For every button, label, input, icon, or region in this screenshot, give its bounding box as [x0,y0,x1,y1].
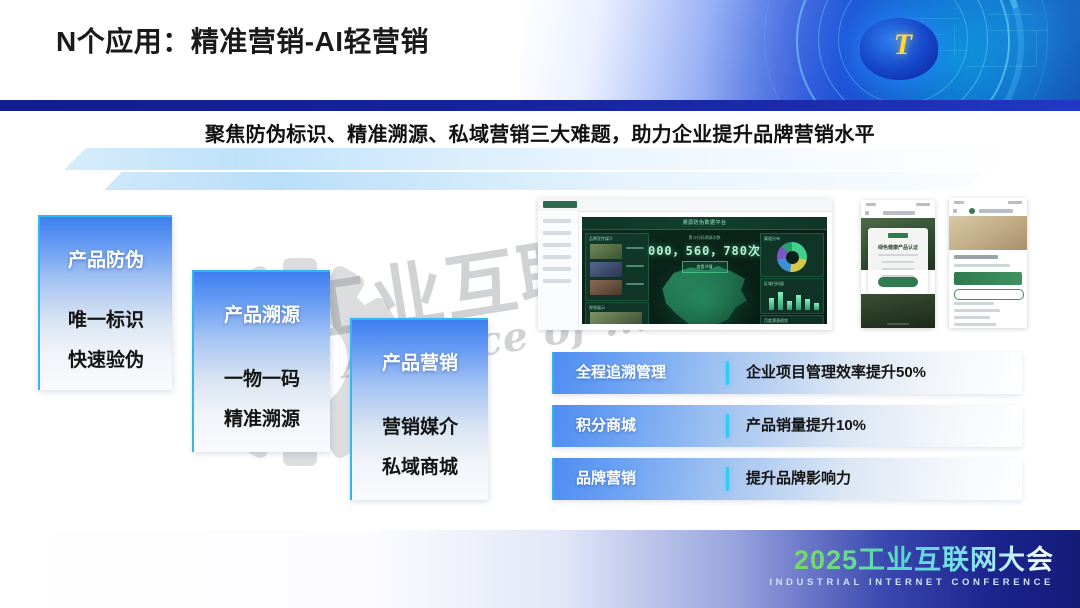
page-title: N个应用：精准营销-AI轻营销 [56,20,429,60]
phone-hero-image [949,216,1027,250]
feature-card-anti-counterfeit[interactable]: 产品防伪 唯一标识 快速验伪 [38,215,172,390]
dashboard-panel-left-top: 品牌宣传媒介 [585,233,649,301]
benefit-label: 品牌营销 [576,458,726,500]
phone-card-title: 绿色健康产品认证 [868,244,928,251]
phone-status-bar [949,198,1027,206]
panel-caption: 月度溯源趋势 [764,318,788,324]
card-line: 一物一码 [194,364,330,391]
conference-logo-main: 2025工业互联网大会 [769,545,1054,575]
card-line: 唯一标识 [40,305,172,332]
card-line: 快速验伪 [40,345,172,372]
card-title: 产品溯源 [194,300,330,327]
dashboard-panel-right-bottom: 月度溯源趋势 [760,315,824,324]
header-band: T N个应用：精准营销-AI轻营销 [0,0,1080,100]
phone-cta-button[interactable] [878,277,918,287]
slide-root: T N个应用：精准营销-AI轻营销 聚焦防伪标识、精准溯源、私域营销三大难题，助… [0,0,1080,608]
dashboard-title: 溯源防伪数据平台 [682,219,726,226]
conference-logo-sub: INDUSTRIAL INTERNET CONFERENCE [769,577,1054,588]
ribbon-lower [104,172,984,190]
benefits-list: 全程追溯管理 企业项目管理效率提升50% 积分商城 产品销量提升10% 品牌营销… [552,352,1022,511]
dashboard-panel-right-top: 渠道分布 [760,233,824,277]
card-title: 产品防伪 [40,245,172,272]
dashboard-browser-chrome [538,198,832,212]
card-line: 精准溯源 [194,404,330,431]
phone-tag-strip [954,272,1022,285]
ribbon-upper [64,148,1020,170]
phone-outline-button[interactable] [954,289,1024,300]
tech-graphic: T [520,0,1080,100]
brand-t-icon: T [894,30,912,60]
dashboard-logo [543,201,577,208]
slide-subtitle: 聚焦防伪标识、精准溯源、私域营销三大难题，助力企业提升品牌营销水平 [0,118,1080,147]
dashboard-sidebar [538,211,579,330]
dashboard-panel-left-bottom: 视频展示 [585,302,649,324]
navy-divider-bar [0,100,1080,111]
feature-card-traceability[interactable]: 产品溯源 一物一码 精准溯源 [192,270,330,452]
benefit-label: 积分商城 [576,405,726,447]
panel-caption: 渠道分布 [764,236,780,242]
benefit-label: 全程追溯管理 [576,352,726,394]
phone-content-card: 绿色健康产品认证 [868,228,928,294]
panel-caption: 区域扫码量 [764,281,784,287]
card-line: 营销媒介 [352,412,488,439]
kpi-value: 000，560，780次 [648,242,761,259]
dashboard-screenshot: 溯源防伪数据平台 累计扫码溯源次数 000，560，780次 查看详情 品牌宣传… [538,198,832,330]
benefit-value: 企业项目管理效率提升50% [746,352,926,394]
panel-caption: 视频展示 [589,305,605,311]
panel-caption: 品牌宣传媒介 [589,236,613,242]
benefit-value: 提升品牌影响力 [746,458,851,500]
row-divider [726,361,729,385]
card-line: 私域商城 [352,452,488,479]
china-map-visual [653,259,757,324]
dashboard-canvas: 溯源防伪数据平台 累计扫码溯源次数 000，560，780次 查看详情 品牌宣传… [582,217,827,324]
row-divider [726,414,729,438]
footer-band: 2025工业互联网大会 INDUSTRIAL INTERNET CONFEREN… [0,530,1080,608]
kpi-caption: 累计扫码溯源次数 [689,235,721,241]
benefit-row[interactable]: 积分商城 产品销量提升10% [552,405,1022,447]
dashboard-panel-right-mid: 区域扫码量 [760,278,824,314]
phone-mockup-certification: 绿色健康产品认证 [861,200,935,328]
benefit-row[interactable]: 品牌营销 提升品牌影响力 [552,458,1022,500]
benefit-row[interactable]: 全程追溯管理 企业项目管理效率提升50% [552,352,1022,394]
dashboard-header: 溯源防伪数据平台 [582,217,827,230]
phone-status-bar [861,200,935,208]
phone-mockup-trace-detail [949,198,1027,328]
card-title: 产品营销 [352,348,488,375]
conference-logo: 2025工业互联网大会 INDUSTRIAL INTERNET CONFEREN… [769,545,1054,588]
row-divider [726,467,729,491]
feature-card-marketing[interactable]: 产品营销 营销媒介 私域商城 [350,318,488,500]
benefit-value: 产品销量提升10% [746,405,866,447]
